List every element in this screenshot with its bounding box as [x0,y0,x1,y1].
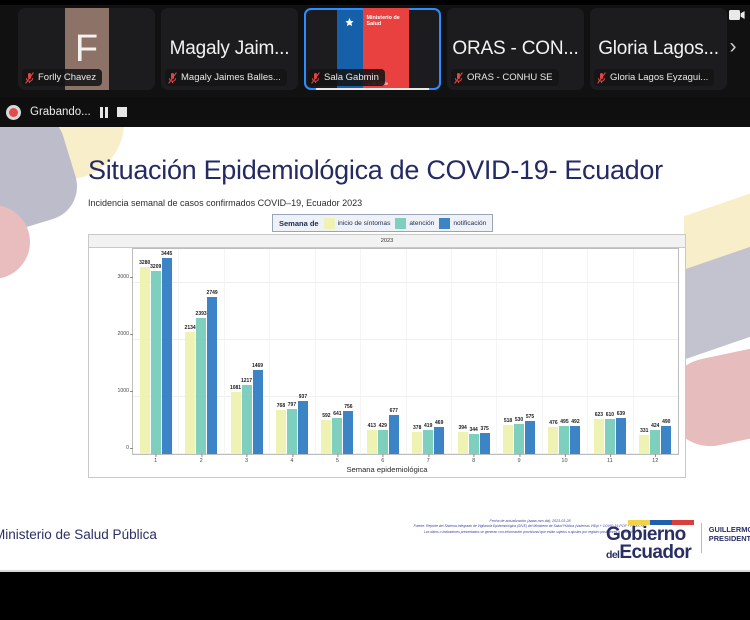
bar: 375 [480,433,490,454]
y-axis-tick: 0 [126,445,129,451]
plot-area: 2023 Casos confirmados COVID–19 01000200… [88,234,686,478]
bar-value-label: 490 [662,419,670,425]
bar-value-label: 2134 [185,325,196,331]
bar-value-label: 424 [651,423,659,429]
legend-item-inicio-de-sintomas: inicio de síntomas [324,218,391,229]
stop-recording-icon[interactable] [117,107,127,117]
bar: 575 [525,421,535,454]
bar-group: 328032093445 [133,249,178,454]
bar: 2749 [207,297,217,454]
bar: 344 [469,434,479,454]
bar-group: 476495492 [542,249,587,454]
bar-value-label: 641 [333,411,341,417]
bar-value-label: 429 [379,423,387,429]
mic-muted-icon [25,72,34,84]
logo-divider [701,523,702,553]
bar: 424 [650,430,660,454]
bar: 530 [514,424,524,454]
participant-display-name: Magaly Jaim... [170,38,290,60]
participant-name: Gloria Lagos Eyzagui... [610,72,708,83]
facet-strip: 2023 [89,235,685,248]
video-logo-text-top: Ministerio deSalud [367,15,400,27]
bar-value-label: 495 [560,419,568,425]
x-axis-tick: 6 [381,458,384,464]
facet-label: 2023 [381,238,393,244]
participant-name: Magaly Jaimes Balles... [181,72,281,83]
bar-value-label: 419 [424,423,432,429]
bar: 1081 [231,392,241,454]
bar: 3209 [151,271,161,454]
shared-slide: Situación Epidemiológica de COVID-19- Ec… [0,127,750,572]
mic-muted-icon [597,72,606,84]
coat-of-arms-icon [344,17,355,28]
participant-name-badge: Magaly Jaimes Balles... [165,69,287,86]
x-axis-tick: 4 [290,458,293,464]
bar: 492 [570,426,580,454]
recording-bar: Grabando... [0,97,750,127]
bar-value-label: 331 [640,428,648,434]
bar: 476 [548,427,558,454]
bar-value-label: 469 [435,420,443,426]
recording-label: Grabando... [30,106,91,118]
participant-tile-gloria-lagos[interactable]: Gloria Lagos... Gloria Lagos Eyzagui... [590,8,727,90]
bar: 419 [423,430,433,454]
x-axis-tick: 2 [200,458,203,464]
bar: 1217 [242,385,252,454]
bar-group: 394344375 [451,249,496,454]
y-axis-tick: 3000 [117,274,129,280]
chart-container: Incidencia semanal de casos confirmados … [88,198,684,510]
legend-swatch [395,218,406,229]
record-dot-icon [6,105,21,120]
bar: 756 [343,411,353,454]
participant-tile-oras-conhu[interactable]: ORAS - CON... ORAS - CONHU SE [447,8,584,90]
bar-group: 592641756 [315,249,360,454]
bottom-letterbox [0,572,750,620]
bar-value-label: 375 [480,426,488,432]
logo-line-2: delEcuador [606,544,694,562]
bar: 495 [559,426,569,454]
legend-swatch [439,218,450,229]
mic-muted-icon [168,72,177,84]
x-axis-tick: 12 [652,458,658,464]
bar: 1469 [253,370,263,454]
bar-value-label: 492 [571,419,579,425]
bar: 3280 [140,267,150,454]
x-axis-tick: 8 [472,458,475,464]
bar-value-label: 3280 [139,260,150,266]
bar: 469 [434,427,444,454]
bar: 394 [458,432,468,454]
bar: 3445 [162,258,172,454]
camera-icon[interactable] [729,8,745,20]
bar: 610 [605,419,615,454]
legend-item-atencion: atención [395,218,434,229]
bar-value-label: 797 [288,402,296,408]
x-axis-tick: 7 [427,458,430,464]
bar-value-label: 639 [617,411,625,417]
participant-display-name: ORAS - CON... [452,38,578,60]
avatar-letter: F [75,30,98,68]
bar-value-label: 1217 [241,378,252,384]
bar-group: 378419469 [406,249,451,454]
bar: 937 [298,401,308,454]
president-label: GUILLERMO PRESIDENTE [709,525,750,544]
legend-item-notificacion: notificación [439,218,486,229]
participant-name: Forlly Chavez [38,72,96,83]
mic-muted-icon [311,72,320,84]
bar-value-label: 413 [368,423,376,429]
bar-value-label: 3209 [150,264,161,270]
bar: 677 [389,415,399,454]
pause-recording-icon[interactable] [100,107,109,118]
bar: 797 [287,409,297,454]
bar: 2393 [196,318,206,454]
participant-tiles: F Forlly Chavez Magaly Jaim... Magaly Ja… [18,8,727,90]
participant-name-badge: Forlly Chavez [22,69,102,86]
legend-label: inicio de síntomas [338,220,391,227]
x-axis-tick: 9 [517,458,520,464]
slide-footer-ministry: Ministerio de Salud Pública [0,527,157,542]
bar-group: 108112171469 [224,249,269,454]
bar-value-label: 344 [469,427,477,433]
bar-value-label: 476 [549,420,557,426]
participant-tile-forlly-chavez[interactable]: F Forlly Chavez [18,8,155,90]
participant-tile-sala-gabmin[interactable]: Ministerio deSalud o de Chile Sala Gabmi… [304,8,441,90]
legend-label: atención [409,220,434,227]
bar-value-label: 768 [277,403,285,409]
bar-value-label: 530 [515,417,523,423]
x-axis-label: Semana epidemiológica [89,465,685,474]
chart-subtitle: Incidencia semanal de casos confirmados … [88,198,362,208]
bar-value-label: 575 [526,414,534,420]
zoom-participant-strip: F Forlly Chavez Magaly Jaim... Magaly Ja… [0,0,750,97]
x-axis-tick: 1 [154,458,157,464]
bar-value-label: 677 [390,408,398,414]
legend-label: notificación [453,220,486,227]
x-axis-tick: 10 [561,458,567,464]
bar-value-label: 518 [504,418,512,424]
screenshot-root: F Forlly Chavez Magaly Jaim... Magaly Ja… [0,0,750,620]
bar: 2134 [185,332,195,454]
participant-name: Sala Gabmin [324,72,379,83]
bar: 413 [367,430,377,454]
bar-value-label: 1469 [252,363,263,369]
bar-value-label: 2393 [196,311,207,317]
x-axis-tick: 11 [607,458,613,464]
bar: 639 [616,418,626,454]
bar-group: 213423932749 [178,249,223,454]
bar-group: 623610639 [587,249,632,454]
slide-title: Situación Epidemiológica de COVID-19- Ec… [88,155,688,186]
bar: 331 [639,435,649,454]
next-participants-chevron-right-icon[interactable]: › [720,30,746,64]
participant-name-badge: Gloria Lagos Eyzagui... [594,69,714,86]
x-axis-tick: 3 [245,458,248,464]
bar: 429 [378,430,388,454]
bar: 378 [412,432,422,454]
legend-title: Semana de [279,219,319,228]
bar-value-label: 394 [458,425,466,431]
bar-value-label: 756 [344,404,352,410]
bar-group: 518530575 [496,249,541,454]
y-axis-tick: 1000 [117,388,129,394]
bar: 518 [503,425,513,454]
bar-value-label: 1081 [230,385,241,391]
bar: 623 [594,419,604,454]
bar: 592 [321,420,331,454]
bar-group: 768797937 [269,249,314,454]
bar-value-label: 2749 [207,290,218,296]
bar-value-label: 592 [322,413,330,419]
participant-name-badge: Sala Gabmin [308,69,385,86]
participant-name-badge: ORAS - CONHU SE [451,69,559,86]
bar-value-label: 3445 [161,251,172,257]
legend-swatch [324,218,335,229]
bar-group: 413429677 [360,249,405,454]
bar-value-label: 610 [606,412,614,418]
participant-tile-magaly-jaimes[interactable]: Magaly Jaim... Magaly Jaimes Balles... [161,8,298,90]
gobierno-del-ecuador-logo: Gobierno delEcuador [606,520,694,562]
president-title: PRESIDENTE [709,534,750,543]
chart-panel: 0100020003000328032093445121342393274921… [132,248,679,455]
mic-muted-icon [454,72,463,84]
participant-display-name: Gloria Lagos... [598,38,719,60]
participant-name: ORAS - CONHU SE [467,72,553,83]
x-axis-tick: 5 [336,458,339,464]
bar: 768 [276,410,286,454]
bar: 641 [332,418,342,455]
chart-legend: Semana de inicio de síntomas atención no… [272,214,493,232]
president-name: GUILLERMO [709,525,750,534]
bar-value-label: 623 [595,412,603,418]
active-speaker-underline [316,88,429,91]
bar: 490 [661,426,671,454]
bar-group: 331424490 [633,249,678,454]
bar-value-label: 378 [413,425,421,431]
window-top-edge [0,0,750,5]
bar-value-label: 937 [299,394,307,400]
y-axis-tick: 2000 [117,331,129,337]
